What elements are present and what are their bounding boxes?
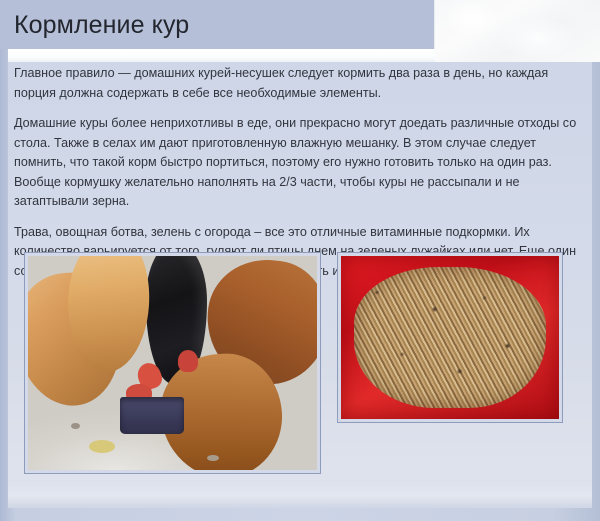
- article-page: Кормление кур Главное правило — домашних…: [0, 0, 600, 521]
- grain-photo-canvas: [341, 256, 559, 419]
- paragraph-2: Домашние куры более неприхотливы в еде, …: [14, 114, 580, 212]
- header-underline: [8, 49, 435, 62]
- photo-row: [0, 250, 600, 480]
- hen-comb-icon: [178, 350, 198, 371]
- ground-debris: [89, 440, 115, 453]
- grain-feed-photo: [337, 252, 563, 423]
- ground-debris: [71, 423, 80, 429]
- paragraph-1: Главное правило — домашних курей-несушек…: [14, 64, 580, 103]
- chickens-photo-canvas: [28, 256, 317, 470]
- feeder-tray: [120, 397, 184, 433]
- bottom-strip: [8, 480, 592, 508]
- page-title: Кормление кур: [14, 9, 189, 41]
- hero-photo: [434, 0, 600, 62]
- red-basin-rim: [341, 256, 559, 419]
- chickens-feeding-photo: [24, 252, 321, 474]
- article-body: Главное правило — домашних курей-несушек…: [14, 64, 580, 281]
